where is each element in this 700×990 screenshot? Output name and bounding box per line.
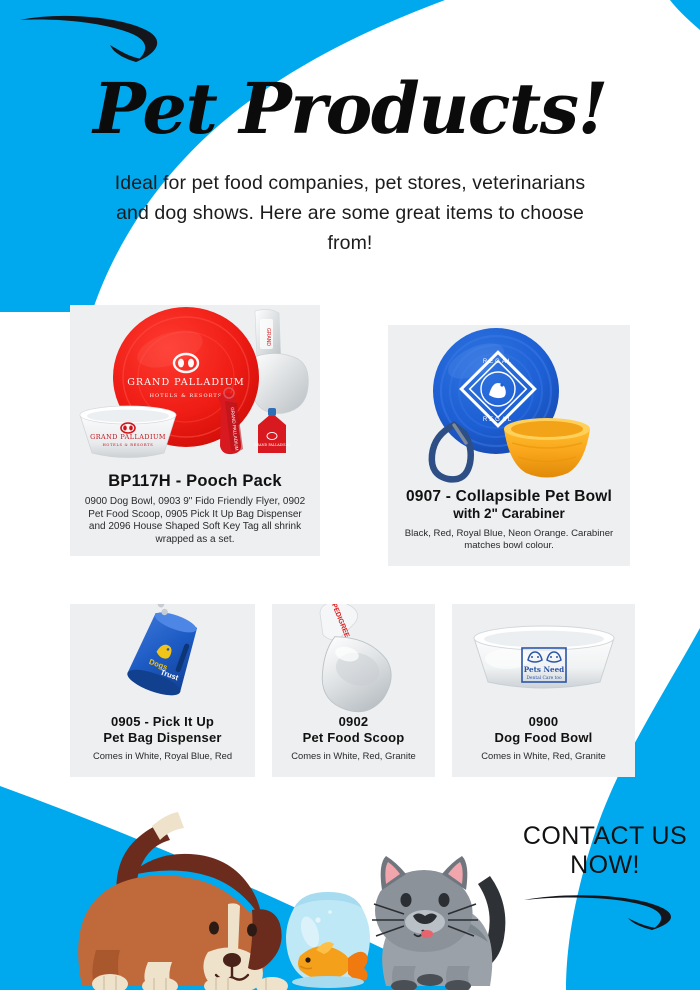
svg-text:GRAND PALLADIUM: GRAND PALLADIUM bbox=[127, 377, 245, 388]
pet-illustration-group bbox=[0, 780, 700, 990]
product-caption: 0907 - Collapsible Pet Bowl with 2" Cara… bbox=[388, 487, 630, 561]
dog-food-bowl-photo: Pets Need Dental Care too bbox=[452, 604, 635, 714]
pooch-pack-photo: GRAND GRAND PALLADIUM HOTELS & RESORTS bbox=[70, 305, 320, 467]
product-subname: Pet Bag Dispenser bbox=[76, 730, 249, 746]
product-subname: Pet Food Scoop bbox=[278, 730, 429, 746]
product-card-collapsible-pet-bowl[interactable]: REGAL REGAL 0907 - Collapsi bbox=[388, 325, 630, 566]
product-description: Black, Red, Royal Blue, Neon Orange. Car… bbox=[394, 528, 624, 553]
product-description: Comes in White, Royal Blue, Red bbox=[76, 750, 249, 762]
collapsible-bowl-photo: REGAL REGAL bbox=[388, 325, 630, 485]
svg-text:Dental Care too: Dental Care too bbox=[526, 676, 562, 681]
swoosh-logo-icon bbox=[18, 14, 168, 66]
product-name: 0907 - Collapsible Pet Bowl bbox=[394, 487, 624, 506]
swoosh-logo-icon bbox=[522, 890, 682, 932]
svg-text:HOTELS & RESORTS: HOTELS & RESORTS bbox=[150, 393, 223, 399]
svg-text:GRAND PALLADIUM: GRAND PALLADIUM bbox=[90, 433, 166, 441]
contact-line-2: NOW! bbox=[515, 851, 695, 880]
product-name: 0902 bbox=[278, 714, 429, 730]
product-name: BP117H - Pooch Pack bbox=[76, 471, 314, 491]
svg-text:REGAL: REGAL bbox=[483, 417, 513, 423]
product-caption: 0902 Pet Food Scoop Comes in White, Red,… bbox=[272, 714, 435, 770]
svg-text:HOTELS & RESORTS: HOTELS & RESORTS bbox=[103, 443, 154, 447]
product-card-dog-food-bowl[interactable]: Pets Need Dental Care too 0900 Dog Food … bbox=[452, 604, 635, 777]
orange-bowl bbox=[504, 418, 590, 478]
product-caption: 0905 - Pick It Up Pet Bag Dispenser Come… bbox=[70, 714, 255, 770]
contact-line-1: CONTACT US bbox=[515, 822, 695, 851]
page-subtitle: Ideal for pet food companies, pet stores… bbox=[96, 168, 604, 258]
product-description: 0900 Dog Bowl, 0903 9" Fido Friendly Fly… bbox=[76, 496, 314, 546]
pet-food-scoop-photo: PEDIGREE bbox=[272, 604, 435, 714]
house-key-tag-item: GRAND PALLADIUM bbox=[254, 408, 291, 453]
product-card-pet-food-scoop[interactable]: PEDIGREE 0902 Pet Food Scoop Comes in Wh… bbox=[272, 604, 435, 777]
product-subname: with 2" Carabiner bbox=[394, 506, 624, 522]
product-caption: BP117H - Pooch Pack 0900 Dog Bowl, 0903 … bbox=[70, 471, 320, 554]
scoop-item: GRAND bbox=[251, 309, 308, 413]
cat-illustration bbox=[372, 856, 505, 990]
contact-us-cta[interactable]: CONTACT US NOW! bbox=[515, 822, 695, 880]
product-name: 0905 - Pick It Up bbox=[76, 714, 249, 730]
product-description: Comes in White, Red, Granite bbox=[278, 750, 429, 762]
bag-dispenser-photo: Dogs Trust bbox=[70, 604, 255, 714]
product-card-pick-it-up-dispenser[interactable]: Dogs Trust 0905 - Pick It Up Pet Bag Dis… bbox=[70, 604, 255, 777]
product-name: 0900 bbox=[458, 714, 629, 730]
dog-bowl-item: GRAND PALLADIUM HOTELS & RESORTS bbox=[80, 406, 176, 458]
svg-text:GRAND: GRAND bbox=[265, 328, 271, 346]
svg-text:REGAL: REGAL bbox=[483, 359, 513, 365]
product-subname: Dog Food Bowl bbox=[458, 730, 629, 746]
svg-text:GRAND PALLADIUM: GRAND PALLADIUM bbox=[254, 443, 291, 447]
product-description: Comes in White, Red, Granite bbox=[458, 750, 629, 762]
page-title: Pet Products! bbox=[0, 72, 700, 146]
product-card-pooch-pack[interactable]: GRAND GRAND PALLADIUM HOTELS & RESORTS bbox=[70, 305, 320, 556]
fishbowl-illustration bbox=[286, 892, 370, 988]
dog-illustration bbox=[78, 812, 288, 990]
product-caption: 0900 Dog Food Bowl Comes in White, Red, … bbox=[452, 714, 635, 770]
flyer-page: Pet Products! Ideal for pet food compani… bbox=[0, 0, 700, 990]
svg-text:Pets Need: Pets Need bbox=[524, 665, 564, 674]
